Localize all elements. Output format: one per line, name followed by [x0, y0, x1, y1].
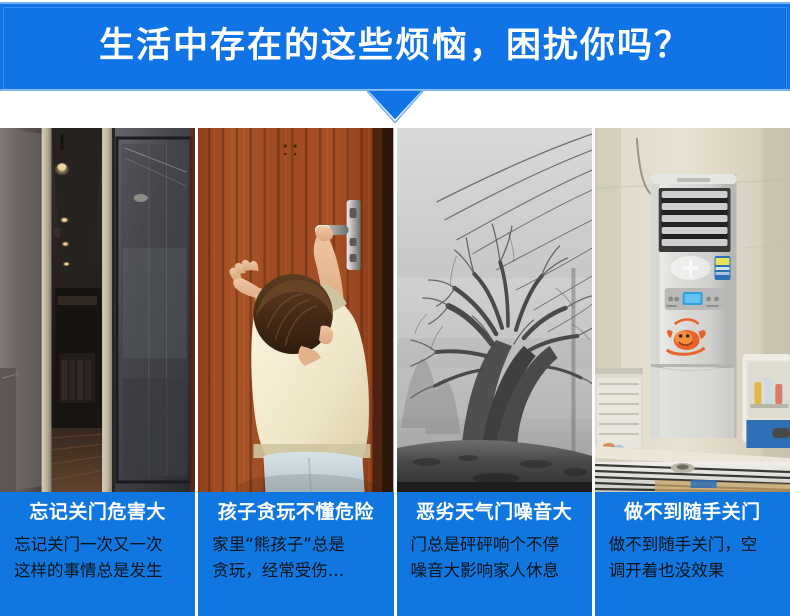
- caption-body-line: 做不到随手关门，空: [609, 532, 780, 558]
- caption-title: 恶劣天气门噪音大: [416, 503, 572, 523]
- panel-caption: 孩子贪玩不懂危险 家里“熊孩子”总是 贪玩，经常受伤…: [198, 492, 393, 616]
- down-arrow-pointer: [367, 91, 423, 123]
- caption-body-line: 家里“熊孩子”总是: [212, 532, 383, 558]
- panel-caption: 做不到随手关门 做不到随手关门，空 调开着也没效果: [595, 492, 790, 616]
- problem-panel[interactable]: 孩子贪玩不懂危险 家里“熊孩子”总是 贪玩，经常受伤…: [198, 128, 393, 616]
- caption-body-line: 门总是砰砰响个不停: [411, 532, 582, 558]
- problem-panel[interactable]: 恶劣天气门噪音大 门总是砰砰响个不停 噪音大影响家人休息: [397, 128, 592, 616]
- stormy-tree-power-lines-photo: [397, 128, 592, 492]
- caption-body: 家里“熊孩子”总是 贪玩，经常受伤…: [208, 532, 383, 583]
- child-reaching-door-handle-photo: [198, 128, 393, 492]
- caption-body-line: 调开着也没效果: [609, 558, 780, 584]
- caption-body: 忘记关门一次又一次 这样的事情总是发生: [10, 532, 185, 583]
- caption-title: 忘记关门危害大: [29, 503, 166, 523]
- page-title: 生活中存在的这些烦恼，困扰你吗？: [99, 29, 691, 64]
- caption-body-line: 噪音大影响家人休息: [411, 558, 582, 584]
- panel-caption: 恶劣天气门噪音大 门总是砰砰响个不停 噪音大影响家人休息: [397, 492, 592, 616]
- dark-corridor-glass-door-photo: [0, 128, 195, 492]
- header-banner-area: 生活中存在的这些烦恼，困扰你吗？: [0, 0, 790, 95]
- header-banner: 生活中存在的这些烦恼，困扰你吗？: [0, 2, 790, 91]
- caption-body: 做不到随手关门，空 调开着也没效果: [605, 532, 780, 583]
- problem-panel[interactable]: 忘记关门危害大 忘记关门一次又一次 这样的事情总是发生: [0, 128, 195, 616]
- floor-air-conditioner-room-photo: [595, 128, 790, 492]
- caption-title: 孩子贪玩不懂危险: [218, 503, 374, 523]
- promo-page: 生活中存在的这些烦恼，困扰你吗？: [0, 0, 790, 616]
- caption-body: 门总是砰砰响个不停 噪音大影响家人休息: [407, 532, 582, 583]
- caption-title: 做不到随手关门: [624, 503, 761, 523]
- caption-body-line: 这样的事情总是发生: [14, 558, 185, 584]
- panel-caption: 忘记关门危害大 忘记关门一次又一次 这样的事情总是发生: [0, 492, 195, 616]
- caption-body-line: 贪玩，经常受伤…: [212, 558, 383, 584]
- problem-panel[interactable]: 做不到随手关门 做不到随手关门，空 调开着也没效果: [595, 128, 790, 616]
- caption-body-line: 忘记关门一次又一次: [14, 532, 185, 558]
- problem-panel-strip: 忘记关门危害大 忘记关门一次又一次 这样的事情总是发生: [0, 128, 790, 616]
